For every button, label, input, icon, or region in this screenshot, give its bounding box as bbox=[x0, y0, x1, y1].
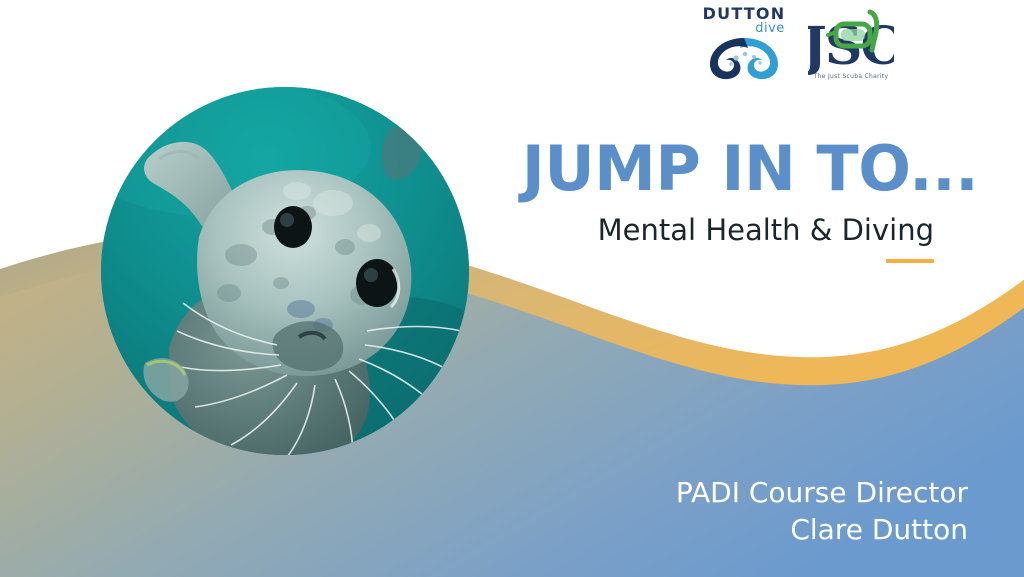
title-block: JUMP IN TO... Mental Health & Diving bbox=[430, 138, 990, 263]
page-title: JUMP IN TO... bbox=[430, 138, 990, 200]
presenter-name: Clare Dutton bbox=[676, 512, 968, 549]
dutton-dive-logo: DUTTON dive bbox=[698, 2, 790, 86]
dutton-sub-wordmark: dive bbox=[755, 21, 785, 36]
presenter-block: PADI Course Director Clare Dutton bbox=[676, 475, 968, 549]
presenter-role: PADI Course Director bbox=[676, 475, 968, 512]
page-subtitle: Mental Health & Diving bbox=[430, 214, 990, 247]
seal-photo-frame bbox=[78, 64, 492, 478]
seal-photo-clip bbox=[101, 87, 469, 455]
grey-seal-underwater-photo bbox=[101, 87, 469, 455]
presentation-slide: DUTTON dive JSC bbox=[0, 0, 1024, 577]
logo-bar: DUTTON dive JSC bbox=[698, 2, 898, 84]
wave-swirl-icon bbox=[710, 38, 778, 79]
accent-bar bbox=[886, 259, 934, 263]
jsc-tagline: The Just Scuba Charity bbox=[813, 73, 889, 80]
just-scuba-charity-logo: JSC The Just Scuba Charity bbox=[808, 2, 894, 86]
